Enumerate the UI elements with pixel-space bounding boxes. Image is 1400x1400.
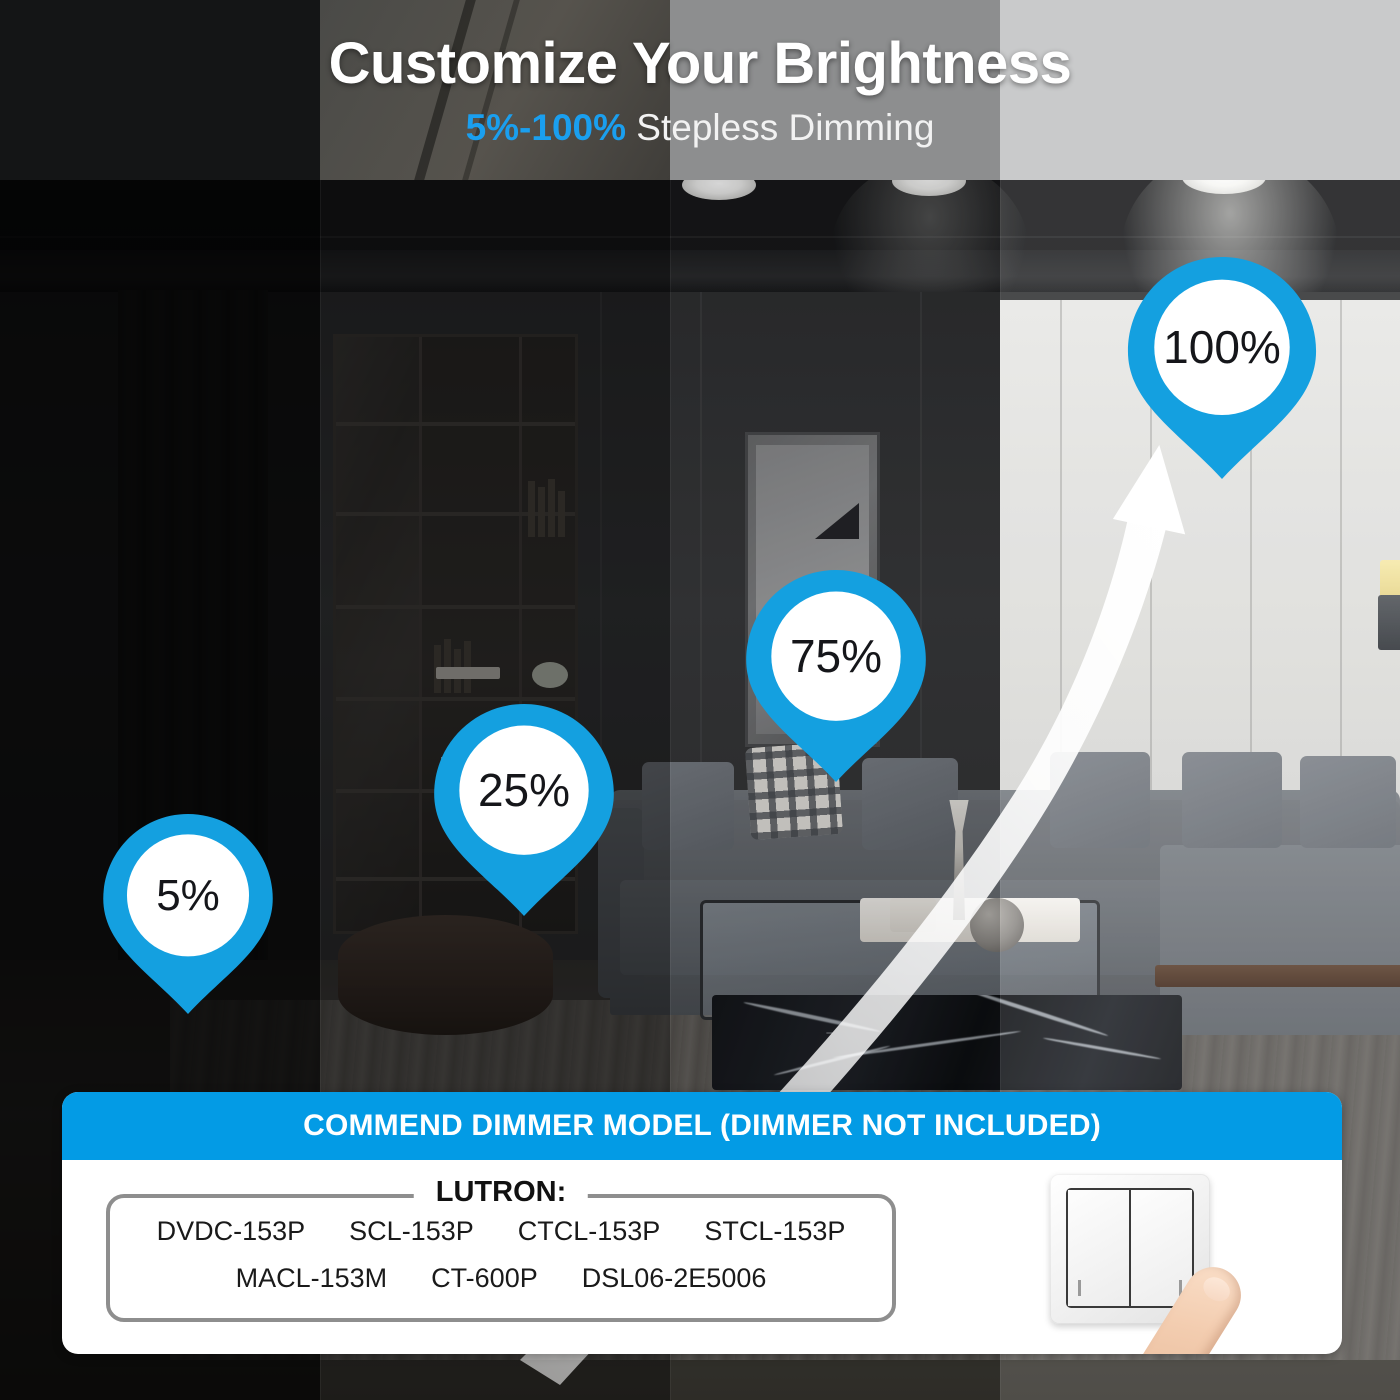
sofa-cushion (1300, 756, 1396, 848)
ceiling-seam (0, 236, 1400, 238)
brightness-pin-5: 5% (103, 814, 273, 1014)
model-row: DVDC-153P SCL-153P CTCL-153P STCL-153P (110, 1216, 892, 1247)
bookshelf-plant (532, 662, 568, 688)
product-feature-image: Customize Your Brightness 5%-100% Steple… (0, 0, 1400, 1400)
bookshelf-shelf (336, 605, 575, 609)
header-banner: Customize Your Brightness 5%-100% Steple… (0, 0, 1400, 180)
pin-label: 100% (1127, 324, 1317, 370)
pin-label: 75% (746, 633, 926, 679)
sofa-chaise (1160, 845, 1400, 1035)
model-number: SCL-153P (349, 1216, 474, 1247)
card-header-title: COMMEND DIMMER MODEL (DIMMER NOT INCLUDE… (303, 1109, 1101, 1143)
sofa-cushion (1050, 752, 1150, 848)
card-body: LUTRON: DVDC-153P SCL-153P CTCL-153P STC… (62, 1160, 1342, 1354)
sofa-cushion (1182, 752, 1282, 848)
wall-switch-illustration (990, 1168, 1320, 1354)
model-number: CTCL-153P (518, 1216, 661, 1247)
switch-rocker-group[interactable] (1066, 1188, 1194, 1308)
dimming-range-accent: 5%-100% (466, 107, 626, 148)
page-title: Customize Your Brightness (0, 0, 1400, 95)
sofa-cushion (642, 762, 734, 850)
wall-sconce-body (1378, 595, 1400, 650)
table-pot (890, 898, 936, 932)
card-header-bar: COMMEND DIMMER MODEL (DIMMER NOT INCLUDE… (62, 1092, 1342, 1160)
art-shape (815, 503, 859, 539)
bookshelf-books (528, 477, 565, 537)
model-number: MACL-153M (236, 1263, 388, 1294)
model-row: MACL-153M CT-600P DSL06-2E5006 (110, 1263, 892, 1294)
bookshelf-glass-door (336, 337, 422, 931)
lutron-models-box: LUTRON: DVDC-153P SCL-153P CTCL-153P STC… (106, 1194, 896, 1322)
pin-label: 25% (434, 767, 614, 813)
leather-ottoman (338, 915, 553, 1035)
bookshelf-object (436, 667, 500, 679)
bookshelf-books (434, 637, 471, 693)
dimmer-model-card: COMMEND DIMMER MODEL (DIMMER NOT INCLUDE… (62, 1092, 1342, 1354)
brightness-pin-75: 75% (746, 570, 926, 782)
model-number: DVDC-153P (157, 1216, 306, 1247)
chaise-wood-rail (1155, 965, 1400, 987)
bookshelf-shelf (336, 422, 575, 426)
bookshelf-shelf (336, 697, 575, 701)
pin-label: 5% (103, 874, 273, 918)
wall-sconce-light (1380, 560, 1400, 600)
brightness-pin-100: 100% (1127, 257, 1317, 479)
model-number: CT-600P (431, 1263, 538, 1294)
model-number: DSL06-2E5006 (582, 1263, 767, 1294)
dimming-range-label: Stepless Dimming (626, 107, 934, 148)
model-number: STCL-153P (704, 1216, 845, 1247)
brand-legend: LUTRON: (414, 1176, 588, 1209)
fingernail (1199, 1272, 1234, 1305)
marble-table-top (712, 995, 1182, 1090)
table-sphere-decor (970, 898, 1024, 952)
page-subtitle: 5%-100% Stepless Dimming (0, 95, 1400, 149)
brightness-pin-25: 25% (434, 704, 614, 916)
